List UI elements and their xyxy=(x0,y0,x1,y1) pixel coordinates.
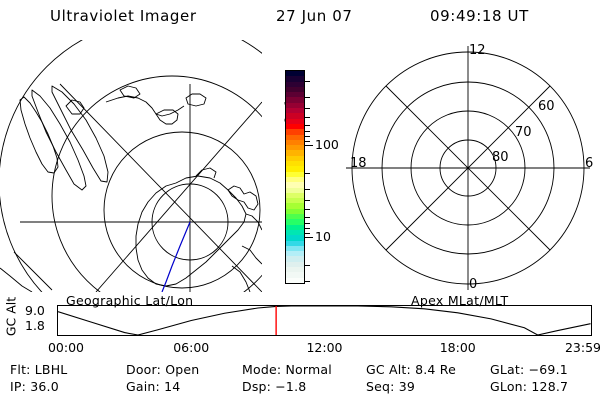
apex-mlat-label-80: 80 xyxy=(492,150,509,165)
colorbar-minor-tick xyxy=(304,233,310,234)
status-geographic-latitude: GLat: −69.1 xyxy=(490,362,568,377)
colorbar-minor-tick xyxy=(304,217,310,218)
orbit-xtick-label: 00:00 xyxy=(48,340,84,355)
orbit-altitude-strip: GC Alt 9.0 1.8 xyxy=(0,303,600,339)
apex-mlt-label-0: 0 xyxy=(469,277,477,292)
colorbar-segment xyxy=(286,278,304,283)
status-dsp: Dsp: −1.8 xyxy=(242,379,306,394)
apex-mlt-label-12: 12 xyxy=(469,43,486,58)
observation-time: 09:49:18 UT xyxy=(430,7,529,25)
status-mode: Mode: Normal xyxy=(242,362,332,377)
apex-mlat-label-70: 70 xyxy=(515,125,532,140)
colorbar-minor-tick xyxy=(304,141,310,142)
status-gc-altitude: GC Alt: 8.4 Re xyxy=(366,362,456,377)
colorbar-minor-tick xyxy=(304,228,310,229)
status-gain: Gain: 14 xyxy=(126,379,180,394)
observation-date: 27 Jun 07 xyxy=(276,7,353,25)
colorbar-minor-tick xyxy=(304,209,310,210)
colorbar-minor-tick xyxy=(304,265,310,266)
colorbar-minor-tick xyxy=(304,223,310,224)
apex-mlt-label-6: 6 xyxy=(585,156,593,171)
geo-coastline xyxy=(20,97,58,173)
colorbar-minor-tick xyxy=(304,97,310,98)
orbit-x-axis-ticks: 00:0006:0012:0018:0023:59 xyxy=(0,340,600,356)
orbit-ytick-top: 9.0 xyxy=(25,303,45,318)
status-ip: IP: 36.0 xyxy=(10,379,59,394)
orbit-plot-svg xyxy=(58,306,591,335)
orbit-xtick-label: 06:00 xyxy=(173,340,209,355)
orbit-xtick-label: 18:00 xyxy=(440,340,476,355)
geo-coastline xyxy=(228,186,258,210)
colorbar-minor-tick xyxy=(304,281,310,282)
orbit-y-axis-label: GC Alt xyxy=(4,297,19,337)
geo-coastline xyxy=(66,100,84,114)
colorbar-minor-tick xyxy=(304,125,310,126)
orbit-plot-area[interactable] xyxy=(57,305,592,336)
status-geographic-longitude: GLon: 128.7 xyxy=(490,379,568,394)
colorbar-major-tick xyxy=(304,237,313,238)
geographic-map-panel[interactable] xyxy=(0,40,262,292)
geo-coastline-group xyxy=(0,86,262,292)
status-flight-mode: Flt: LBHL xyxy=(10,362,67,377)
geographic-map-svg xyxy=(0,40,262,292)
orbit-xtick-label: 23:59 xyxy=(565,340,600,355)
orbit-ytick-bottom: 1.8 xyxy=(25,318,45,333)
colorbar-minor-tick xyxy=(304,108,310,109)
instrument-title: Ultraviolet Imager xyxy=(50,7,197,25)
status-row-2: IP: 36.0 Gain: 14 Dsp: −1.8 Seq: 39 GLon… xyxy=(0,379,600,396)
status-row-1: Flt: LBHL Door: Open Mode: Normal GC Alt… xyxy=(0,362,600,379)
status-door-state: Door: Open xyxy=(126,362,199,377)
orbit-xtick-label: 12:00 xyxy=(306,340,342,355)
apex-polar-svg: 12 6 0 18 60 70 80 xyxy=(340,40,600,292)
apex-mlt-label-18: 18 xyxy=(350,156,367,171)
status-sequence: Seq: 39 xyxy=(366,379,415,394)
colorbar-minor-tick xyxy=(304,117,310,118)
geo-latitude-circle xyxy=(0,40,262,292)
colorbar-label-100: 100 xyxy=(315,137,339,152)
geo-orbit-track xyxy=(162,222,190,292)
apex-magnetic-panel[interactable]: 12 6 0 18 60 70 80 xyxy=(340,40,600,292)
geo-coastline xyxy=(106,96,184,116)
colorbar-label-10: 10 xyxy=(315,229,331,244)
colorbar-panel: photon cm-2s-1 100 10 xyxy=(262,60,342,295)
colorbar-minor-tick xyxy=(304,81,310,82)
status-block: Flt: LBHL Door: Open Mode: Normal GC Alt… xyxy=(0,360,600,398)
geo-latitude-circle xyxy=(0,40,262,292)
colorbar-minor-tick xyxy=(304,200,310,201)
colorbar-minor-tick xyxy=(304,173,310,174)
geo-coastline xyxy=(242,246,262,264)
colorbar-minor-tick xyxy=(304,189,310,190)
geo-coastline xyxy=(186,94,206,106)
geo-meridian xyxy=(96,102,262,292)
apex-mlat-label-60: 60 xyxy=(538,99,555,114)
header-bar: Ultraviolet Imager 27 Jun 07 09:49:18 UT xyxy=(0,4,600,30)
colorbar-gradient xyxy=(285,70,305,284)
uvi-display-root: Ultraviolet Imager 27 Jun 07 09:49:18 UT xyxy=(0,0,600,400)
colorbar-tick-group xyxy=(304,70,312,284)
colorbar-major-tick xyxy=(304,145,313,146)
geo-coastline xyxy=(0,268,32,292)
colorbar-minor-tick xyxy=(304,136,310,137)
orbit-altitude-curve xyxy=(58,306,591,335)
colorbar-minor-tick xyxy=(304,131,310,132)
